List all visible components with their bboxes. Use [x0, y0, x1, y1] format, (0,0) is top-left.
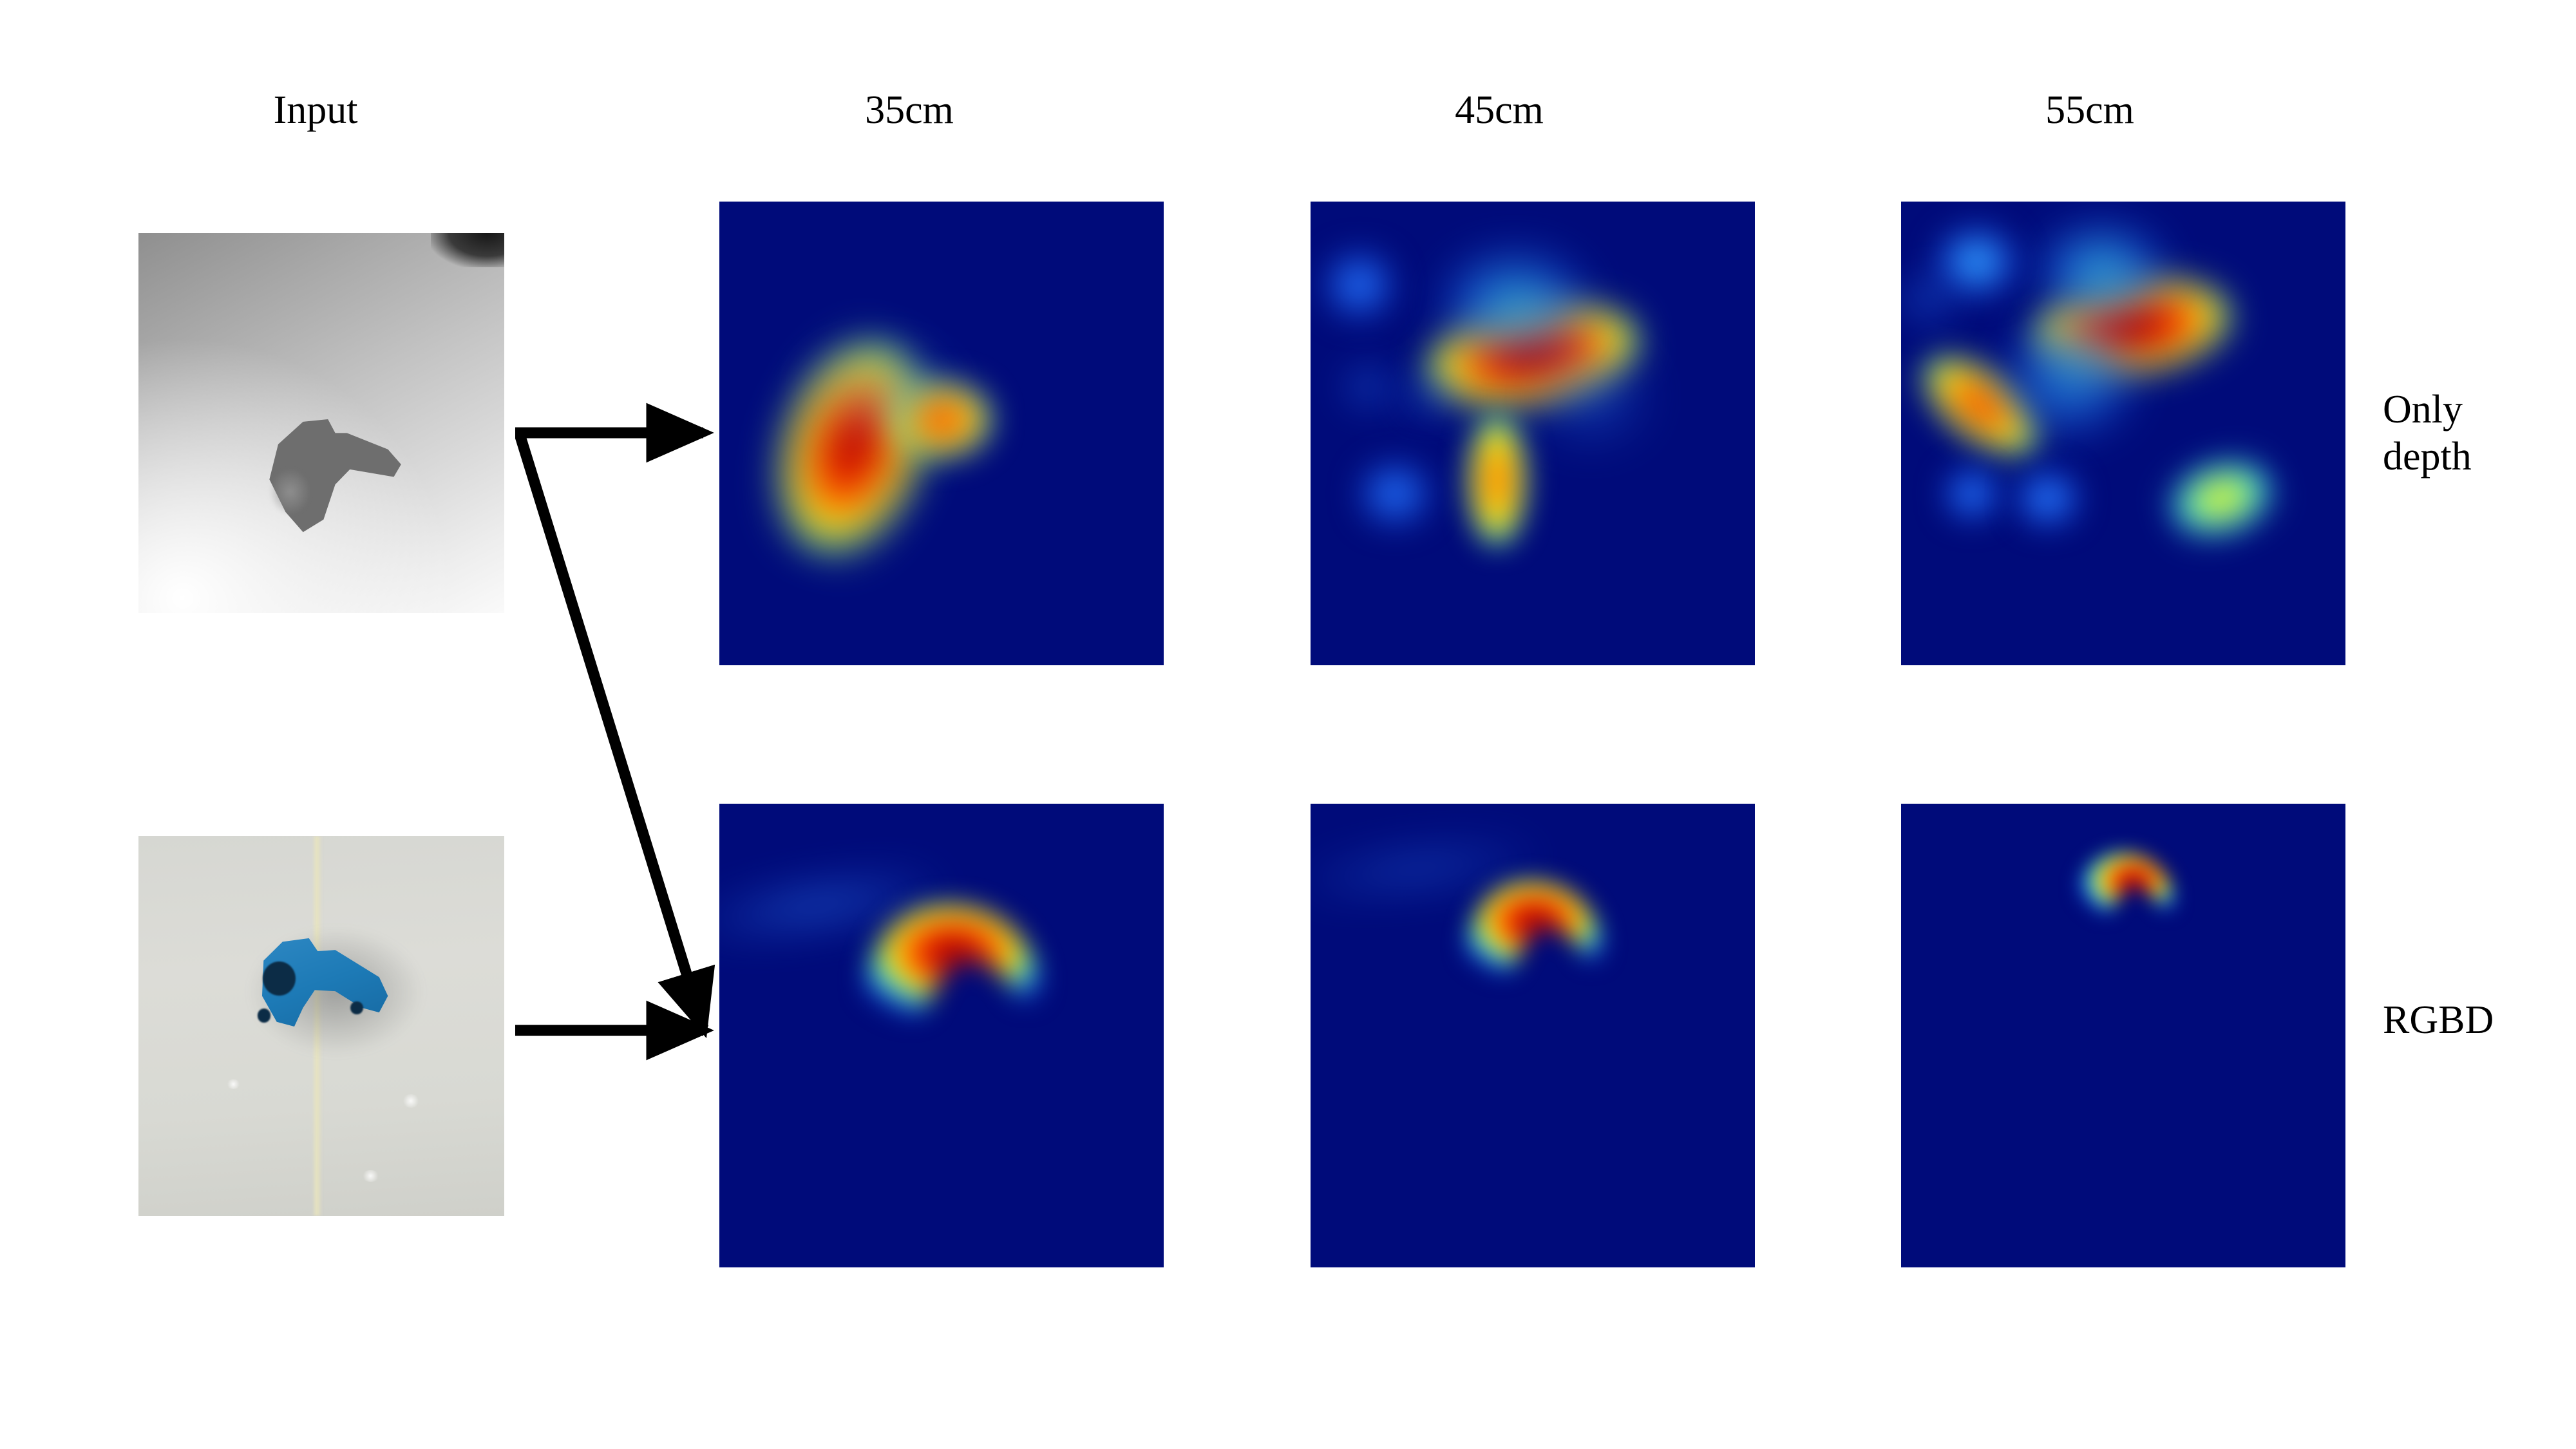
halo-right: [1533, 350, 1648, 442]
spurious-blob-3: [2016, 471, 2079, 526]
spurious-blob-4: [1395, 375, 1466, 417]
heatmap-only-depth-35cm: [719, 202, 1164, 665]
halo-top: [2043, 229, 2159, 313]
spurious-blob-4: [1901, 271, 1956, 327]
spurious-blob-3: [1340, 361, 1397, 412]
spurious-blob-2: [1946, 468, 1999, 519]
heatmap-rgbd-45cm: [1311, 804, 1755, 1267]
halo-top: [1448, 257, 1582, 350]
hotspot-stem: [1468, 415, 1526, 545]
halo-center: [2012, 327, 2127, 428]
halo-upper: [804, 355, 955, 429]
hotspot-crescent: [2065, 846, 2181, 929]
hotspot-crescent: [1453, 871, 1613, 987]
heatmap-only-depth-45cm: [1311, 202, 1755, 665]
spurious-blob-2: [1361, 464, 1428, 524]
heatmap-rgbd-55cm: [1901, 804, 2345, 1267]
hotspot-crescent: [848, 892, 1052, 1031]
spurious-blob-bright-right: [2162, 450, 2280, 547]
arrow-depth-to-rgbd-row: [520, 437, 703, 1028]
heatmap-rgbd-35cm: [719, 804, 1164, 1267]
heatmap-only-depth-55cm: [1901, 202, 2345, 665]
spurious-blob-1: [1326, 252, 1393, 317]
figure-root: Input 35cm 45cm 55cm Only depth RGBD: [0, 0, 2576, 1449]
